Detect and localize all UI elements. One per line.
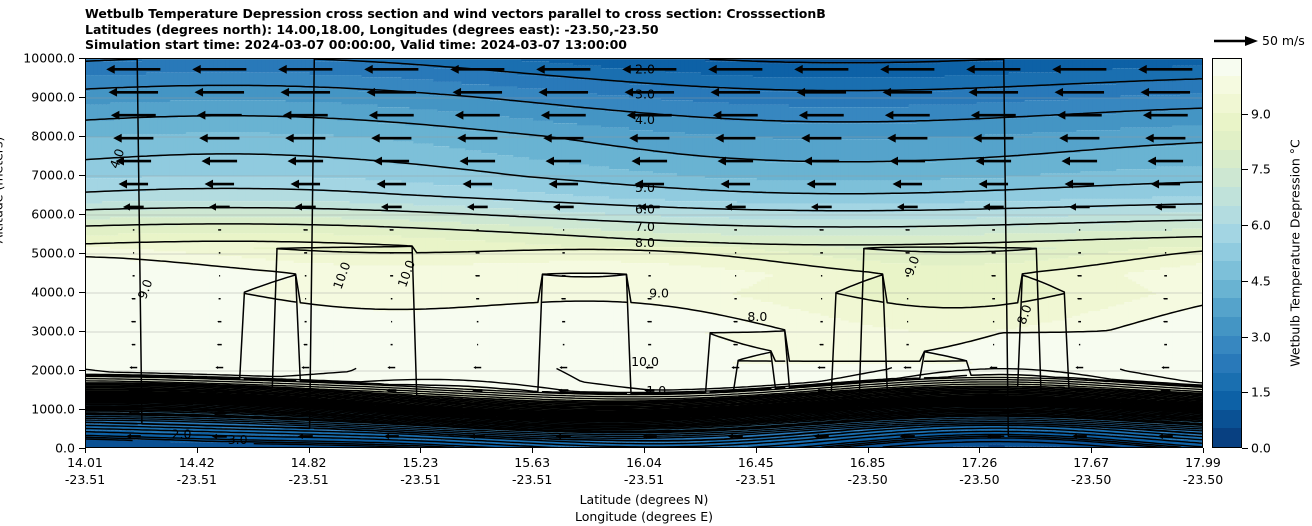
y-tick-label: 0.0 xyxy=(55,441,75,456)
x-tick-label-longitude: -23.51 xyxy=(400,472,440,487)
colorbar-tick-mark xyxy=(1242,448,1248,449)
wind-vector-key: 50 m/s xyxy=(1212,32,1312,52)
contour-label: 6.0 xyxy=(635,202,655,217)
x-tick-label-longitude: -23.51 xyxy=(288,472,328,487)
y-tick-label: 4000.0 xyxy=(31,285,75,300)
contour-label: 2.0 xyxy=(172,427,192,442)
colorbar-tick-label: 9.0 xyxy=(1251,106,1271,121)
contour-label: 3.0 xyxy=(228,432,248,447)
colorbar-segment xyxy=(1213,168,1241,187)
colorbar-tick-label: 0.0 xyxy=(1251,441,1271,456)
x-tick-label-latitude: 14.42 xyxy=(179,455,215,470)
y-tick-mark xyxy=(79,97,85,98)
x-tick-label-latitude: 17.67 xyxy=(1073,455,1109,470)
colorbar-segment xyxy=(1213,428,1241,447)
title-line-3: Simulation start time: 2024-03-07 00:00:… xyxy=(85,37,1205,53)
contour-label: 1.0 xyxy=(646,383,666,398)
colorbar-segment xyxy=(1213,243,1241,262)
x-tick-mark xyxy=(1203,448,1204,453)
colorbar-tick-label: 4.5 xyxy=(1251,273,1271,288)
colorbar-segment xyxy=(1213,58,1241,76)
x-tick-mark xyxy=(420,448,421,453)
x-tick-label-longitude: -23.50 xyxy=(1071,472,1111,487)
colorbar-tick-mark xyxy=(1242,114,1248,115)
colorbar-tick-label: 6.0 xyxy=(1251,218,1271,233)
colorbar-segment xyxy=(1213,113,1241,132)
x-tick-label-latitude: 16.04 xyxy=(626,455,662,470)
colorbar-tick-mark xyxy=(1242,281,1248,282)
x-tick-label-longitude: -23.51 xyxy=(65,472,105,487)
y-tick-mark xyxy=(79,370,85,371)
colorbar-title: Wetbulb Temperature Depression °C xyxy=(1288,139,1303,366)
colorbar-segment xyxy=(1213,354,1241,373)
contour-label: 7.0 xyxy=(635,219,655,234)
colorbar-segment xyxy=(1213,391,1241,410)
colorbar-segment xyxy=(1213,410,1241,429)
y-tick-mark xyxy=(79,175,85,176)
x-tick-label-longitude: -23.50 xyxy=(847,472,887,487)
y-tick-label: 2000.0 xyxy=(31,363,75,378)
x-tick-label-latitude: 14.82 xyxy=(291,455,327,470)
y-tick-mark xyxy=(79,292,85,293)
contour-label: 4.0 xyxy=(635,112,655,127)
wind-key-label: 50 m/s xyxy=(1262,33,1305,48)
x-tick-label-longitude: -23.50 xyxy=(1183,472,1223,487)
x-tick-mark xyxy=(309,448,310,453)
x-tick-label-latitude: 15.23 xyxy=(402,455,438,470)
contour-label: 2.0 xyxy=(635,61,655,76)
colorbar-segment xyxy=(1213,131,1241,150)
colorbar-segment xyxy=(1213,261,1241,280)
x-tick-label-longitude: -23.50 xyxy=(959,472,999,487)
colorbar-segment xyxy=(1213,206,1241,225)
contour-label: 10.0 xyxy=(631,354,659,369)
arrow-right-icon xyxy=(1212,34,1260,48)
contour-label: 8.0 xyxy=(635,235,655,250)
y-tick-mark xyxy=(79,58,85,59)
y-tick-label: 6000.0 xyxy=(31,207,75,222)
x-tick-label-latitude: 16.45 xyxy=(738,455,774,470)
colorbar xyxy=(1212,58,1242,448)
x-tick-mark xyxy=(1091,448,1092,453)
colorbar-segment xyxy=(1213,94,1241,113)
y-tick-label: 3000.0 xyxy=(31,324,75,339)
colorbar-tick-label: 3.0 xyxy=(1251,329,1271,344)
x-tick-mark xyxy=(756,448,757,453)
y-tick-label: 5000.0 xyxy=(31,246,75,261)
contour-label: 9.0 xyxy=(649,286,669,301)
colorbar-segment xyxy=(1213,317,1241,336)
x-tick-label-latitude: 16.85 xyxy=(850,455,886,470)
x-axis-label-longitude: Longitude (degrees E) xyxy=(575,509,713,524)
y-tick-label: 9000.0 xyxy=(31,90,75,105)
x-tick-label-longitude: -23.51 xyxy=(736,472,776,487)
colorbar-segment xyxy=(1213,298,1241,317)
y-tick-label: 10000.0 xyxy=(23,51,75,66)
y-tick-mark xyxy=(79,214,85,215)
x-tick-mark xyxy=(979,448,980,453)
x-tick-mark xyxy=(85,448,86,453)
colorbar-segment xyxy=(1213,280,1241,299)
title-line-1: Wetbulb Temperature Depression cross sec… xyxy=(85,6,1205,22)
y-tick-mark xyxy=(79,136,85,137)
x-tick-mark xyxy=(644,448,645,453)
x-tick-label-latitude: 14.01 xyxy=(67,455,103,470)
y-tick-mark xyxy=(79,253,85,254)
title-line-2: Latitudes (degrees north): 14.00,18.00, … xyxy=(85,22,1205,38)
x-axis-label-latitude: Latitude (degrees N) xyxy=(580,492,709,507)
colorbar-tick-mark xyxy=(1242,169,1248,170)
colorbar-tick-mark xyxy=(1242,392,1248,393)
cross-section-canvas: 1.02.02.03.03.04.04.05.06.07.08.08.08.09… xyxy=(86,59,1203,448)
colorbar-tick-label: 1.5 xyxy=(1251,385,1271,400)
contour-label: 5.0 xyxy=(635,180,655,195)
y-tick-mark xyxy=(79,331,85,332)
y-tick-mark xyxy=(79,409,85,410)
colorbar-tick-mark xyxy=(1242,337,1248,338)
x-tick-mark xyxy=(197,448,198,453)
x-tick-label-latitude: 17.26 xyxy=(961,455,997,470)
figure-title: Wetbulb Temperature Depression cross sec… xyxy=(85,6,1205,53)
x-tick-label-longitude: -23.51 xyxy=(177,472,217,487)
contour-label: 3.0 xyxy=(635,87,655,102)
plot-area: 1.02.02.03.03.04.04.05.06.07.08.08.08.09… xyxy=(85,58,1203,448)
x-tick-label-latitude: 15.63 xyxy=(514,455,550,470)
y-tick-label: 1000.0 xyxy=(31,402,75,417)
colorbar-segment xyxy=(1213,224,1241,243)
colorbar-tick-label: 7.5 xyxy=(1251,162,1271,177)
colorbar-segment xyxy=(1213,150,1241,169)
x-tick-label-latitude: 17.99 xyxy=(1185,455,1221,470)
x-tick-label-longitude: -23.51 xyxy=(624,472,664,487)
contour-label: 8.0 xyxy=(747,309,767,324)
y-tick-label: 7000.0 xyxy=(31,168,75,183)
colorbar-segment xyxy=(1213,373,1241,392)
colorbar-segment xyxy=(1213,336,1241,355)
x-tick-mark xyxy=(868,448,869,453)
x-tick-mark xyxy=(532,448,533,453)
y-tick-label: 8000.0 xyxy=(31,129,75,144)
cross-section-figure: Wetbulb Temperature Depression cross sec… xyxy=(0,0,1312,526)
colorbar-segment xyxy=(1213,187,1241,206)
y-axis-label: Altitude (meters) xyxy=(0,137,6,244)
x-tick-label-longitude: -23.51 xyxy=(512,472,552,487)
colorbar-tick-mark xyxy=(1242,225,1248,226)
colorbar-segment xyxy=(1213,76,1241,95)
